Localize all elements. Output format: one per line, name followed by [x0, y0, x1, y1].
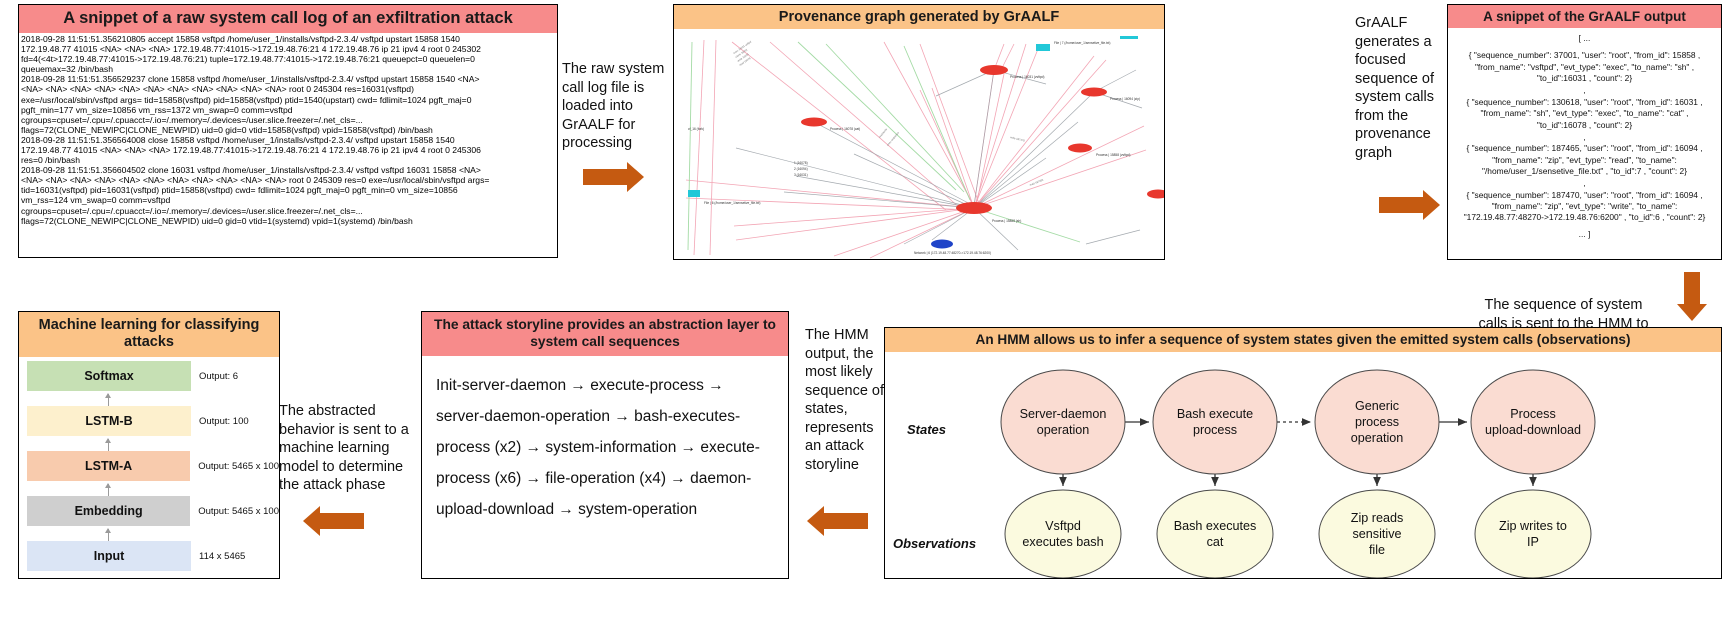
log-line: 172.19.48.77 41015 <NA> <NA> <NA> 172.19…	[21, 45, 557, 55]
raw-syscall-log-panel: A snippet of a raw system call log of an…	[18, 4, 558, 258]
graalf-output-title: A snippet of the GrAALF output	[1448, 5, 1721, 28]
json-separator: ,	[1454, 133, 1715, 141]
storyline-line: upload-download → system-operation	[436, 494, 774, 525]
hmm-state-node	[1153, 370, 1277, 474]
ml-layer-block: Input	[27, 541, 191, 571]
json-record-line: "from_name": "sh", "evt_type": "exec", "…	[1454, 108, 1715, 119]
json-open-bracket: [ ...	[1454, 34, 1715, 42]
attack-storyline-title: The attack storyline provides an abstrac…	[422, 312, 788, 356]
provenance-graph-svg: Process | 16031 (vsftpd) Process | 16094…	[674, 30, 1164, 259]
json-separator: ,	[1454, 86, 1715, 94]
storyline-line: process (x6) → file-operation (x4) → dae…	[436, 463, 774, 494]
ml-layer-connector	[27, 393, 191, 406]
hmm-state-node	[1471, 370, 1595, 474]
svg-text:write 187470: write 187470	[1010, 135, 1026, 143]
attack-storyline-panel: The attack storyline provides an abstrac…	[421, 311, 789, 579]
svg-text:2 (16094): 2 (16094)	[794, 167, 808, 171]
json-record-line: { "sequence_number": 187470, "user": "ro…	[1454, 190, 1715, 201]
machine-learning-panel: Machine learning for classifying attacks…	[18, 311, 280, 579]
svg-text:exec sequence: exec sequence	[886, 131, 900, 147]
svg-text:Process | 15858 (sh): Process | 15858 (sh)	[992, 219, 1021, 223]
ml-layer-connector	[27, 483, 191, 496]
raw-syscall-log-title: A snippet of a raw system call log of an…	[19, 5, 557, 33]
ml-layer-row: EmbeddingOutput: 5465 x 100	[19, 496, 279, 526]
attack-storyline-body: Init-server-daemon → execute-process →se…	[422, 356, 788, 525]
ml-layer-output: Output: 6	[199, 371, 238, 382]
svg-text:File | 6 (/home/user_1/senseti: File | 6 (/home/user_1/sensetive_file.tx…	[704, 201, 760, 205]
log-line: queuemax=32 /bin/bash	[21, 65, 557, 75]
svg-text:read/write: read/write	[878, 127, 889, 139]
json-record: { "sequence_number": 37001, "user": "roo…	[1454, 50, 1715, 84]
ml-layer-row: LSTM-BOutput: 100	[19, 406, 279, 436]
svg-text:1 (16078): 1 (16078)	[794, 161, 808, 165]
hmm-diagram: States Observations Server-daemonoperati…	[885, 354, 1721, 578]
ml-layer-output: Output: 100	[199, 416, 249, 427]
hmm-observation-node	[1475, 490, 1591, 578]
log-line: fd=4(<4t>172.19.48.77:41015->172.19.48.7…	[21, 55, 557, 65]
hmm-observation-node	[1157, 490, 1273, 578]
log-line: 2018-09-28 11:51:51.356210805 accept 158…	[21, 35, 557, 45]
log-line: flags=72(CLONE_NEWIPC|CLONE_NEWPID) uid=…	[21, 217, 557, 227]
ml-layer-block: Softmax	[27, 361, 191, 391]
ml-layer-output: Output: 5465 x 100	[198, 506, 279, 517]
ml-layer-row: SoftmaxOutput: 6	[19, 361, 279, 391]
raw-syscall-log-body: 2018-09-28 11:51:51.356210805 accept 158…	[19, 33, 557, 227]
svg-text:Process | 16078 (cat): Process | 16078 (cat)	[830, 127, 860, 131]
json-record-line: "/home/user_1/sensetive_file.txt" , "to_…	[1454, 166, 1715, 177]
caption-log-loaded-into-graalf: The raw system call log file is loaded i…	[562, 60, 667, 153]
storyline-line: process (x2) → system-information → exec…	[436, 432, 774, 463]
log-line: 2018-09-28 11:51:51.356604502 clone 1603…	[21, 166, 557, 176]
ml-layer-block: LSTM-B	[27, 406, 191, 436]
svg-text:cf_16 (fork): cf_16 (fork)	[688, 127, 704, 131]
log-line: 172.19.48.77 41015 <NA> <NA> <NA> 172.19…	[21, 146, 557, 156]
log-line: <NA> <NA> <NA> <NA> <NA> <NA> <NA> <NA> …	[21, 85, 557, 95]
provenance-graph-title: Provenance graph generated by GrAALF	[674, 5, 1164, 29]
svg-text:read 187465: read 187465	[1029, 178, 1045, 187]
svg-text:3 (16031): 3 (16031)	[794, 173, 808, 177]
hmm-svg: Server-daemonoperationBash executeproces…	[885, 354, 1721, 578]
log-line: cgroups=cpuset=/.cpu=/.cpuacct=/.io=/.me…	[21, 207, 557, 217]
hmm-observations-label: Observations	[893, 536, 976, 551]
json-record-line: { "sequence_number": 130618, "user": "ro…	[1454, 97, 1715, 108]
hmm-state-label: Genericprocessoperation	[1351, 399, 1404, 445]
json-record-line: { "sequence_number": 187465, "user": "ro…	[1454, 143, 1715, 154]
hmm-panel: An HMM allows us to infer a sequence of …	[884, 327, 1722, 579]
log-line: vm_rss=124 vm_swap=0 comm=vsftpd	[21, 196, 557, 206]
json-record: { "sequence_number": 187465, "user": "ro…	[1454, 143, 1715, 177]
hmm-title: An HMM allows us to infer a sequence of …	[885, 328, 1721, 352]
log-line: tid=16031(vsftpd) pid=16031(vsftpd) ptid…	[21, 186, 557, 196]
ml-layer-row: LSTM-AOutput: 5465 x 100	[19, 451, 279, 481]
log-line: pgft_min=177 vm_size=10856 vm_rss=1372 v…	[21, 106, 557, 116]
ml-layer-output: 114 x 5465	[199, 551, 245, 562]
json-close-bracket: ... ]	[1454, 230, 1715, 238]
svg-text:File | 7 (/home/user_1/senseti: File | 7 (/home/user_1/sensetive_file.tx…	[1054, 41, 1110, 45]
json-separator: ,	[1454, 179, 1715, 187]
graalf-output-json: [ ...{ "sequence_number": 37001, "user":…	[1448, 28, 1721, 238]
json-record-line: "from_name": "vsftpd", "evt_type": "exec…	[1454, 62, 1715, 73]
json-record-line: "to_id":16031 , "count": 2}	[1454, 73, 1715, 84]
hmm-states-label: States	[907, 422, 946, 437]
json-record-line: "from_name": "zip", "evt_type": "write",…	[1454, 201, 1715, 212]
hmm-state-node	[1001, 370, 1125, 474]
log-line: cgroups=cpuset=/.cpu=/.cpuacct=/.io=/.me…	[21, 116, 557, 126]
ml-layer-stack: SoftmaxOutput: 6LSTM-BOutput: 100LSTM-AO…	[19, 357, 279, 571]
json-record: { "sequence_number": 130618, "user": "ro…	[1454, 97, 1715, 131]
log-line: res=0 /bin/bash	[21, 156, 557, 166]
graalf-output-panel: A snippet of the GrAALF output [ ...{ "s…	[1447, 4, 1722, 260]
storyline-line: server-daemon-operation → bash-executes-	[436, 401, 774, 432]
ml-layer-block: LSTM-A	[27, 451, 190, 481]
json-record-line: "to_id":16078 , "count": 2}	[1454, 120, 1715, 131]
provenance-graph-canvas[interactable]: Process | 16031 (vsftpd) Process | 16094…	[674, 30, 1164, 259]
log-line: 2018-09-28 11:51:51.356529237 clone 1585…	[21, 75, 557, 85]
json-record-line: { "sequence_number": 37001, "user": "roo…	[1454, 50, 1715, 61]
json-record: { "sequence_number": 187470, "user": "ro…	[1454, 190, 1715, 224]
svg-text:Process | 16031 (vsftpd): Process | 16031 (vsftpd)	[1010, 75, 1045, 79]
json-record-line: "172.19.48.77:48270->172.19.48.76:6200" …	[1454, 212, 1715, 223]
provenance-graph-panel: Provenance graph generated by GrAALF	[673, 4, 1165, 260]
caption-hmm-output: The HMM output, the most likely sequence…	[805, 326, 885, 474]
storyline-line: Init-server-daemon → execute-process →	[436, 370, 774, 401]
log-line: 2018-09-28 11:51:51.356564008 close 1585…	[21, 136, 557, 146]
ml-layer-connector	[27, 438, 191, 451]
svg-text:Network | 6 (172.19.48.77:4827: Network | 6 (172.19.48.77:48270->172.19.…	[914, 251, 991, 255]
ml-layer-output: Output: 5465 x 100	[198, 461, 279, 472]
caption-graalf-generates: GrAALF generates a focused sequence of s…	[1355, 14, 1441, 162]
ml-layer-row: Input114 x 5465	[19, 541, 279, 571]
machine-learning-title: Machine learning for classifying attacks	[19, 312, 279, 357]
json-record-line: "from_name": "zip", "evt_type": "read", …	[1454, 155, 1715, 166]
log-line: flags=72(CLONE_NEWIPC|CLONE_NEWPID) uid=…	[21, 126, 557, 136]
ml-layer-block: Embedding	[27, 496, 190, 526]
ml-layer-connector	[27, 528, 191, 541]
hmm-observation-node	[1005, 490, 1121, 578]
log-line: <NA> <NA> <NA> <NA> <NA> <NA> <NA> <NA> …	[21, 176, 557, 186]
svg-text:Process | 15858 (vsftpd): Process | 15858 (vsftpd)	[1096, 153, 1131, 157]
caption-abstracted-behavior: The abstracted behavior is sent to a mac…	[279, 402, 411, 495]
svg-text:Process | 16094 (zip): Process | 16094 (zip)	[1110, 97, 1140, 101]
log-line: exe=/usr/local/sbin/vsftpd args= tid=158…	[21, 96, 557, 106]
